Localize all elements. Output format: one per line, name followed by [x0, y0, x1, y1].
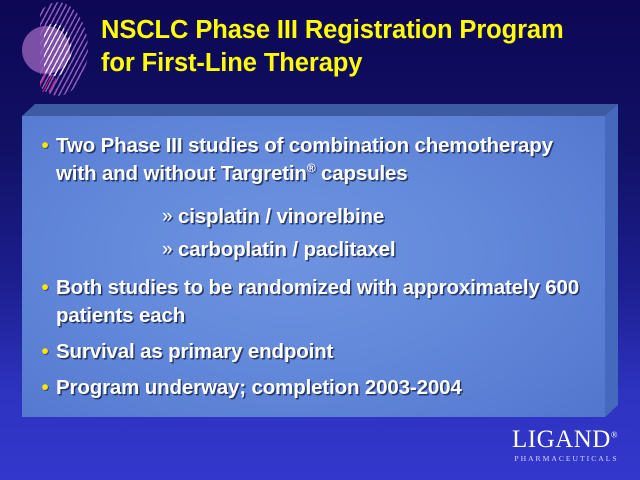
decorative-emblem: [18, 2, 96, 100]
content-panel: • Two Phase III studies of combination c…: [22, 104, 618, 417]
list-item-text: Two Phase III studies of combination che…: [56, 132, 593, 188]
sub-bullet-marker-icon: »: [162, 236, 178, 264]
list-item-text: carboplatin / paclitaxel: [178, 236, 593, 264]
bullet-marker-icon: •: [34, 338, 56, 366]
bullet-marker-icon: •: [34, 274, 56, 302]
spacer: [34, 190, 593, 198]
list-item-text-part-2: capsules: [315, 162, 407, 185]
ligand-logo: LIGAND® PHARMACEUTICALS: [506, 427, 624, 464]
emblem-magenta-accent-shape: [40, 74, 56, 92]
list-item: • Survival as primary endpoint: [34, 338, 593, 366]
ligand-tagline: PHARMACEUTICALS: [509, 453, 624, 464]
list-item: » cisplatin / vinorelbine: [162, 203, 593, 231]
list-item: • Program underway; completion 2003-2004: [34, 374, 593, 402]
ligand-wordmark: LIGAND®: [512, 427, 618, 452]
slide-title-line-1: NSCLC Phase III Registration Program: [101, 14, 621, 47]
spacer: [34, 264, 593, 274]
slide-title-line-2: for First-Line Therapy: [101, 47, 621, 80]
panel-top-bevel: [22, 104, 618, 116]
panel-right-bevel: [605, 104, 618, 417]
list-item: • Two Phase III studies of combination c…: [34, 132, 593, 188]
emblem-hatch-highlight-shape: [44, 24, 76, 76]
list-item-text: Survival as primary endpoint: [56, 338, 593, 366]
list-item-text: Program underway; completion 2003-2004: [56, 374, 593, 402]
slide-title: NSCLC Phase III Registration Program for…: [101, 14, 621, 80]
sub-bullet-marker-icon: »: [162, 203, 178, 231]
list-item-text: cisplatin / vinorelbine: [178, 203, 593, 231]
ligand-wordmark-text: LIGAND: [512, 426, 611, 453]
registered-trademark-icon: ®: [611, 430, 618, 440]
list-item-text-part-1: Two Phase III studies of combination che…: [56, 134, 553, 185]
list-item: » carboplatin / paclitaxel: [162, 236, 593, 264]
list-item: • Both studies to be randomized with app…: [34, 274, 593, 330]
bullet-marker-icon: •: [34, 374, 56, 402]
slide: NSCLC Phase III Registration Program for…: [0, 0, 640, 480]
list-item-text: Both studies to be randomized with appro…: [56, 274, 593, 330]
bullet-marker-icon: •: [34, 132, 56, 160]
bullet-list: • Two Phase III studies of combination c…: [22, 116, 605, 417]
